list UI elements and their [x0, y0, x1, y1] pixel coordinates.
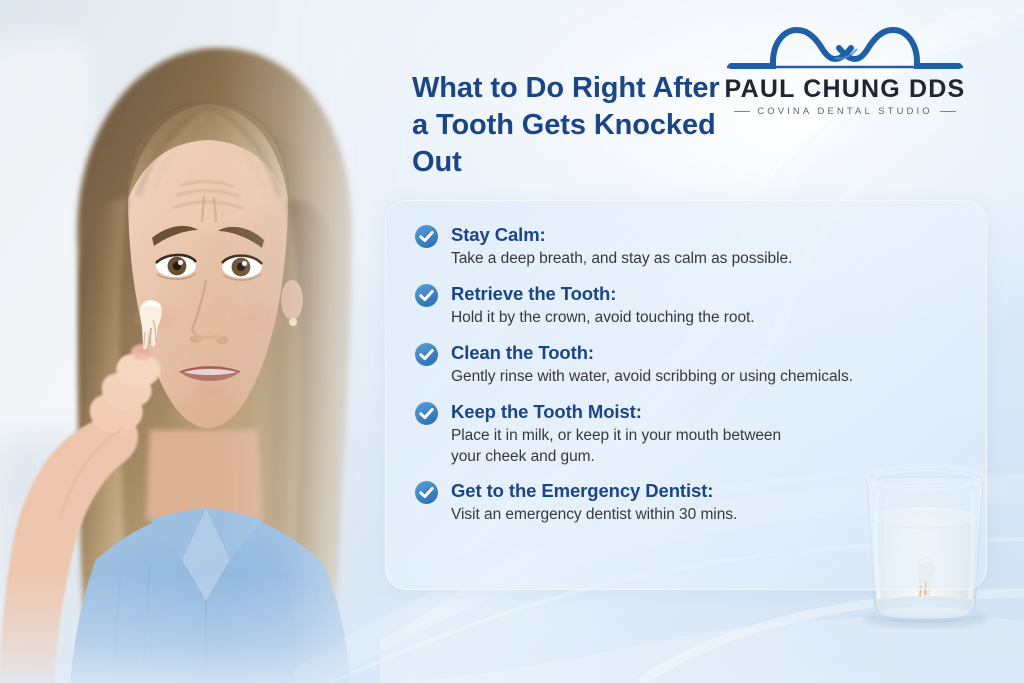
list-item-body: Clean the Tooth: Gently rinse with water…	[451, 341, 960, 388]
practice-logo[interactable]: PAUL CHUNG DDS COVINA DENTAL STUDIO	[705, 22, 985, 117]
list-item-title: Stay Calm:	[451, 224, 960, 245]
list-item-body: Retrieve the Tooth: Hold it by the crown…	[451, 282, 960, 329]
list-item-description: Visit an emergency dentist within 30 min…	[451, 505, 960, 526]
list-item-title: Retrieve the Tooth:	[451, 283, 960, 304]
list-item: Clean the Tooth: Gently rinse with water…	[414, 341, 960, 388]
list-item-body: Keep the Tooth Moist: Place it in milk, …	[451, 400, 960, 467]
list-item: Keep the Tooth Moist: Place it in milk, …	[414, 400, 960, 467]
logo-tagline-row: COVINA DENTAL STUDIO	[705, 106, 985, 117]
list-item-description: Take a deep breath, and stay as calm as …	[451, 249, 960, 270]
page-title: What to Do Right After a Tooth Gets Knoc…	[412, 70, 742, 181]
list-item-description: Place it in milk, or keep it in your mou…	[451, 426, 801, 467]
list-item-title: Keep the Tooth Moist:	[451, 401, 960, 422]
tooth-arch-logo-mark	[725, 22, 965, 74]
worried-woman-holding-tooth-photo	[0, 0, 420, 683]
list-item: Get to the Emergency Dentist: Visit an e…	[414, 479, 960, 526]
check-circle-icon	[414, 401, 439, 426]
infographic-poster: PAUL CHUNG DDS COVINA DENTAL STUDIO What…	[0, 0, 1024, 683]
list-item-body: Stay Calm: Take a deep breath, and stay …	[451, 223, 960, 270]
list-item-body: Get to the Emergency Dentist: Visit an e…	[451, 479, 960, 526]
list-item: Retrieve the Tooth: Hold it by the crown…	[414, 282, 960, 329]
list-item-title: Clean the Tooth:	[451, 342, 960, 363]
logo-tagline: COVINA DENTAL STUDIO	[757, 106, 933, 117]
logo-practice-name: PAUL CHUNG DDS	[705, 76, 985, 102]
logo-dash-right	[940, 111, 956, 112]
list-item-title: Get to the Emergency Dentist:	[451, 480, 960, 501]
list-item-description: Gently rinse with water, avoid scribbing…	[451, 367, 960, 388]
list-item: Stay Calm: Take a deep breath, and stay …	[414, 223, 960, 270]
steps-card: Stay Calm: Take a deep breath, and stay …	[385, 200, 987, 590]
check-circle-icon	[414, 224, 439, 249]
check-circle-icon	[414, 342, 439, 367]
check-circle-icon	[414, 480, 439, 505]
check-circle-icon	[414, 283, 439, 308]
list-item-description: Hold it by the crown, avoid touching the…	[451, 308, 960, 329]
